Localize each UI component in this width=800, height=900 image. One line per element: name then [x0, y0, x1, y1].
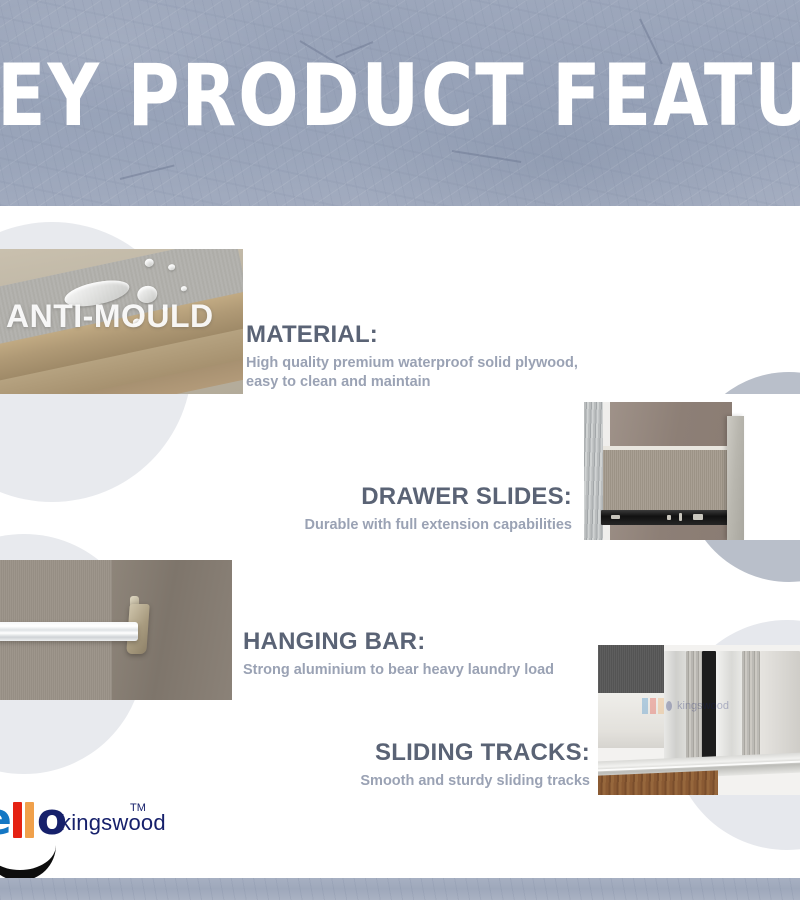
page-title: KEY PRODUCT FEATURES	[0, 48, 800, 144]
anti-mould-overlay-label: ANTI-MOULD	[6, 298, 246, 335]
infographic-page: KEY PRODUCT FEATURES ANTI-MOULD	[0, 0, 800, 900]
rail-detail	[693, 514, 703, 520]
logo-trademark-icon: TM	[130, 802, 146, 814]
drawer-front-panel	[727, 416, 744, 540]
footer-strip	[0, 878, 800, 900]
feature-heading-material: MATERIAL:	[246, 320, 586, 350]
logo-letters: e o	[0, 800, 67, 840]
feature-description-drawer-slides: Durable with full extension capabilities	[200, 516, 572, 535]
rail-detail	[667, 515, 671, 520]
feature-heading-drawer-slides: DRAWER SLIDES:	[200, 482, 572, 512]
feature-description-hanging-bar: Strong aluminium to bear heavy laundry l…	[243, 661, 573, 680]
watermark-mark	[642, 698, 648, 714]
watermark-text: kingswood	[677, 700, 729, 712]
aluminium-hanging-bar-photo	[0, 560, 232, 700]
door-upper-dark-panel	[598, 645, 664, 693]
feature-heading-sliding-tracks: SLIDING TRACKS:	[240, 738, 590, 768]
kingswood-watermark: kingswood	[642, 693, 754, 719]
watermark-mark	[666, 701, 672, 711]
feature-description-sliding-tracks: Smooth and sturdy sliding tracks	[240, 772, 590, 791]
logo-letter-l-orange	[25, 802, 34, 838]
feature-material: MATERIAL: High quality premium waterproo…	[246, 320, 586, 392]
sliding-panel	[760, 651, 800, 769]
feature-heading-hanging-bar: HANGING BAR:	[243, 627, 573, 657]
brand-logo: e o kingswood TM	[0, 800, 192, 872]
sliding-door-track-photo: kingswood	[598, 645, 800, 795]
watermark-mark	[658, 698, 664, 714]
drawer-box	[603, 450, 731, 510]
feature-description-material: High quality premium waterproof solid pl…	[246, 354, 586, 392]
logo-brand-word: kingswood	[60, 810, 166, 836]
rail-detail	[679, 513, 682, 521]
drawer-slide-extension-photo	[573, 394, 800, 540]
feature-sliding-tracks: SLIDING TRACKS: Smooth and sturdy slidin…	[240, 738, 590, 791]
drawer-slide-rail	[601, 510, 733, 525]
feature-drawer-slides: DRAWER SLIDES: Durable with full extensi…	[200, 482, 572, 535]
watermark-mark	[650, 698, 656, 714]
logo-letter-l-red	[13, 802, 22, 838]
page-header: KEY PRODUCT FEATURES	[0, 0, 800, 206]
logo-letter-e: e	[0, 800, 12, 840]
wooden-floor-edge	[598, 770, 718, 795]
feature-hanging-bar: HANGING BAR: Strong aluminium to bear he…	[243, 627, 573, 680]
rail-detail	[611, 515, 620, 519]
aluminium-bar	[0, 622, 138, 641]
logo-smile-icon	[0, 844, 56, 881]
